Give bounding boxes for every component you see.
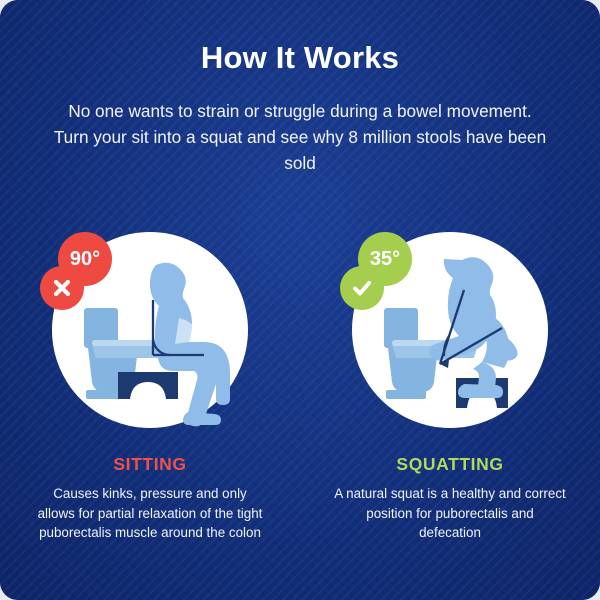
panel-sitting: 90° SITTING Causes kinks, pressure and o…	[0, 232, 300, 543]
sitting-illustration: 90°	[52, 232, 248, 428]
check-icon	[340, 266, 384, 310]
close-icon	[40, 266, 84, 310]
panel-description-sitting: Causes kinks, pressure and only allows f…	[34, 484, 266, 543]
angle-badge-label: 90°	[70, 248, 100, 271]
panel-squatting: 35° SQUATTING A natural squat is a healt…	[300, 232, 600, 543]
panel-heading-squatting: SQUATTING	[396, 454, 503, 475]
comparison-panels: 90° SITTING Causes kinks, pressure and o…	[0, 232, 600, 543]
squatting-illustration: 35°	[352, 232, 548, 428]
page-title: How It Works	[0, 40, 600, 76]
angle-badge-label: 35°	[370, 248, 400, 271]
panel-heading-sitting: SITTING	[113, 454, 186, 475]
infographic-card: How It Works No one wants to strain or s…	[0, 0, 600, 600]
page-subtitle: No one wants to strain or struggle durin…	[50, 98, 550, 176]
panel-description-squatting: A natural squat is a healthy and correct…	[334, 484, 566, 543]
infographic-content: How It Works No one wants to strain or s…	[0, 0, 600, 600]
